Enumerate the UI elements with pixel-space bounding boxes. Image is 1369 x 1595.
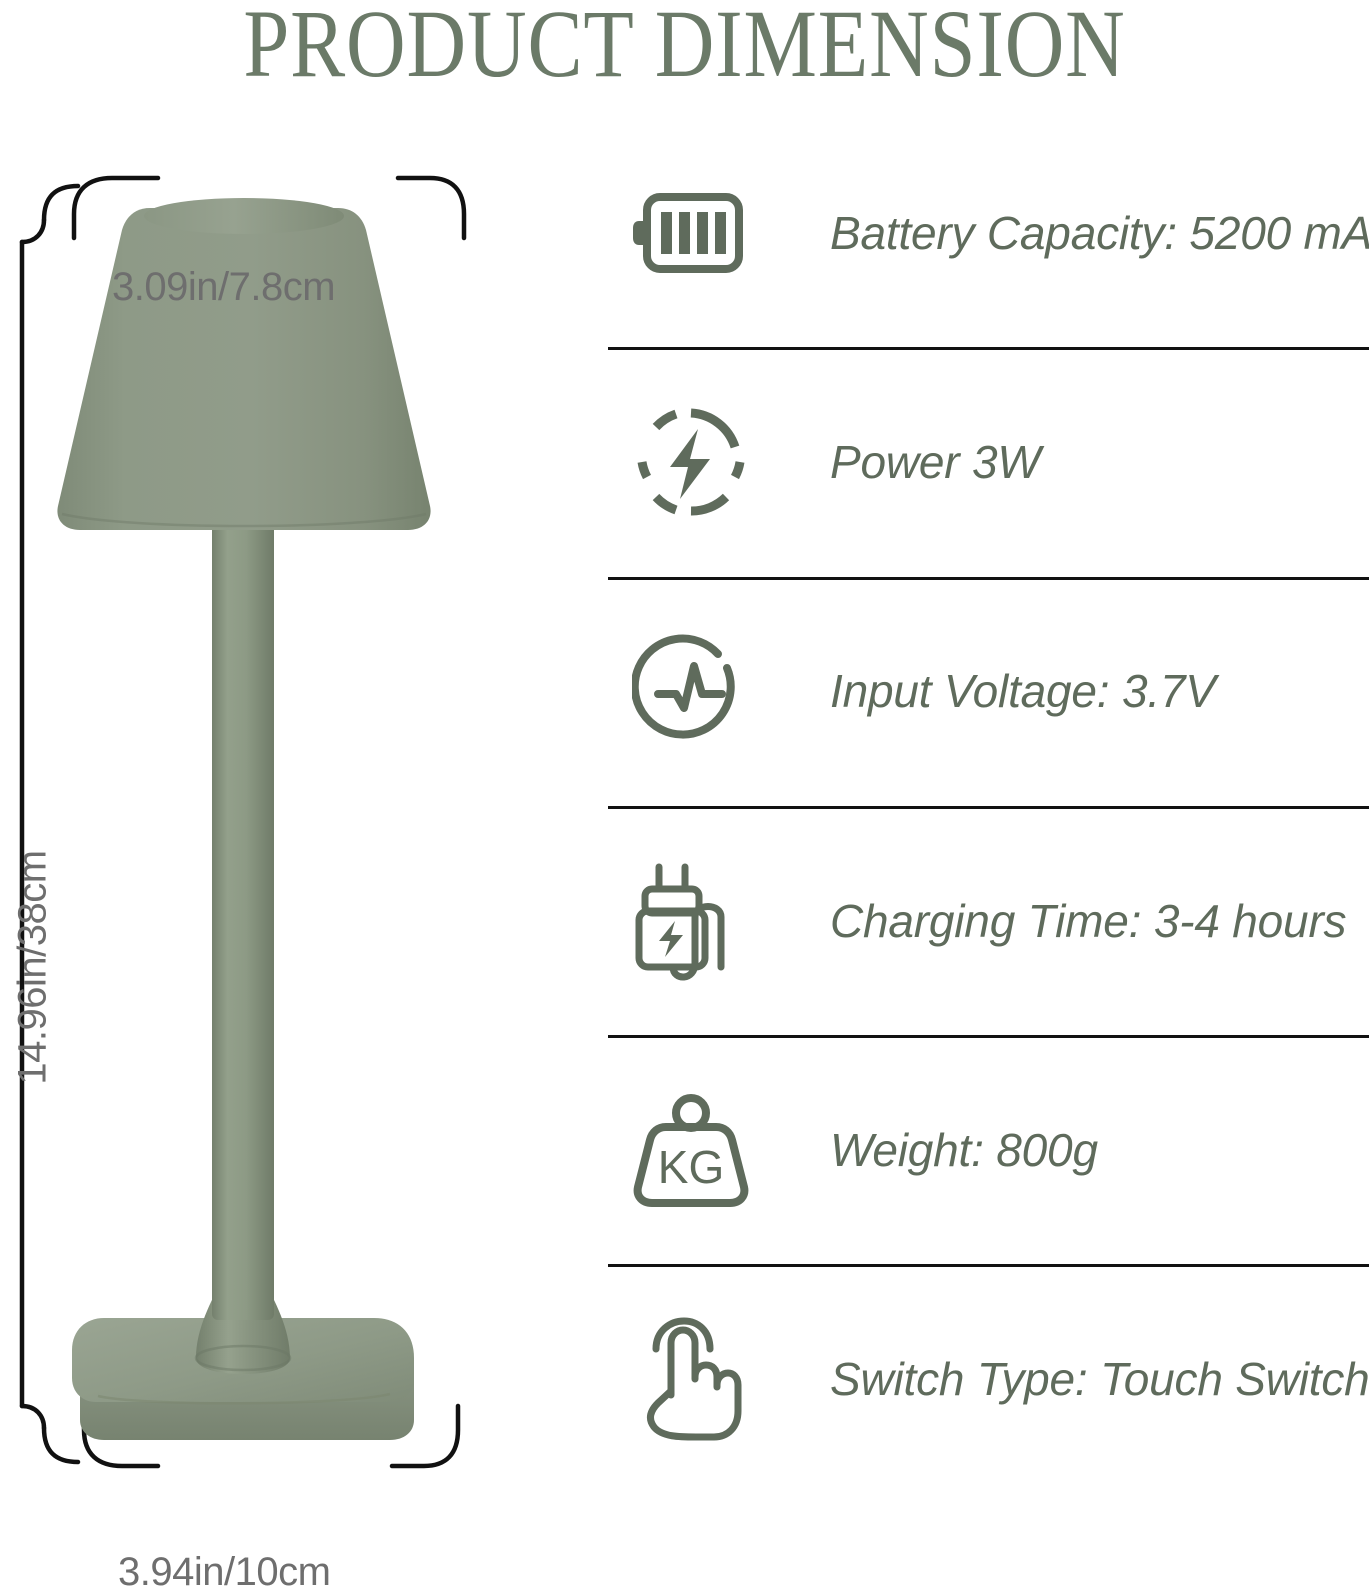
touch-hand-icon xyxy=(616,1314,766,1444)
charger-plug-icon xyxy=(616,856,766,986)
page-title: PRODUCT DIMENSION xyxy=(96,0,1273,95)
lamp-illustration-panel: 3.09in/7.8cm 14.96in/38cm 3.94in/10cm xyxy=(0,110,590,1494)
specification-list: Battery Capacity: 5200 mAh Power 3W xyxy=(608,118,1369,1494)
spec-label-voltage: Input Voltage: 3.7V xyxy=(830,664,1216,718)
lamp-stem xyxy=(212,502,274,1320)
spec-label-power: Power 3W xyxy=(830,435,1041,489)
spec-row-weight: KG Weight: 800g xyxy=(608,1035,1369,1264)
lamp-diagram xyxy=(0,110,590,1494)
weight-unit-text: KG xyxy=(658,1141,724,1193)
voltage-pulse-icon xyxy=(616,626,766,756)
product-dimension-infographic: PRODUCT DIMENSION xyxy=(0,0,1369,1494)
spec-label-charging: Charging Time: 3-4 hours xyxy=(830,894,1346,948)
spec-row-switch: Switch Type: Touch Switch xyxy=(608,1264,1369,1493)
lamp-shade xyxy=(57,198,430,530)
spec-label-switch: Switch Type: Touch Switch xyxy=(830,1352,1369,1406)
base-width-dimension-label: 3.94in/10cm xyxy=(118,1550,330,1595)
spec-row-battery: Battery Capacity: 5200 mAh xyxy=(608,118,1369,347)
spec-row-power: Power 3W xyxy=(608,347,1369,576)
weight-kg-icon: KG xyxy=(616,1085,766,1215)
height-dimension-label: 14.96in/38cm xyxy=(11,818,56,1118)
top-width-dimension-label: 3.09in/7.8cm xyxy=(112,265,335,310)
spec-row-charging: Charging Time: 3-4 hours xyxy=(608,806,1369,1035)
spec-label-battery: Battery Capacity: 5200 mAh xyxy=(830,206,1369,260)
battery-icon xyxy=(616,168,766,298)
power-bolt-icon xyxy=(616,397,766,527)
spec-label-weight: Weight: 800g xyxy=(830,1123,1098,1177)
spec-row-voltage: Input Voltage: 3.7V xyxy=(608,577,1369,806)
